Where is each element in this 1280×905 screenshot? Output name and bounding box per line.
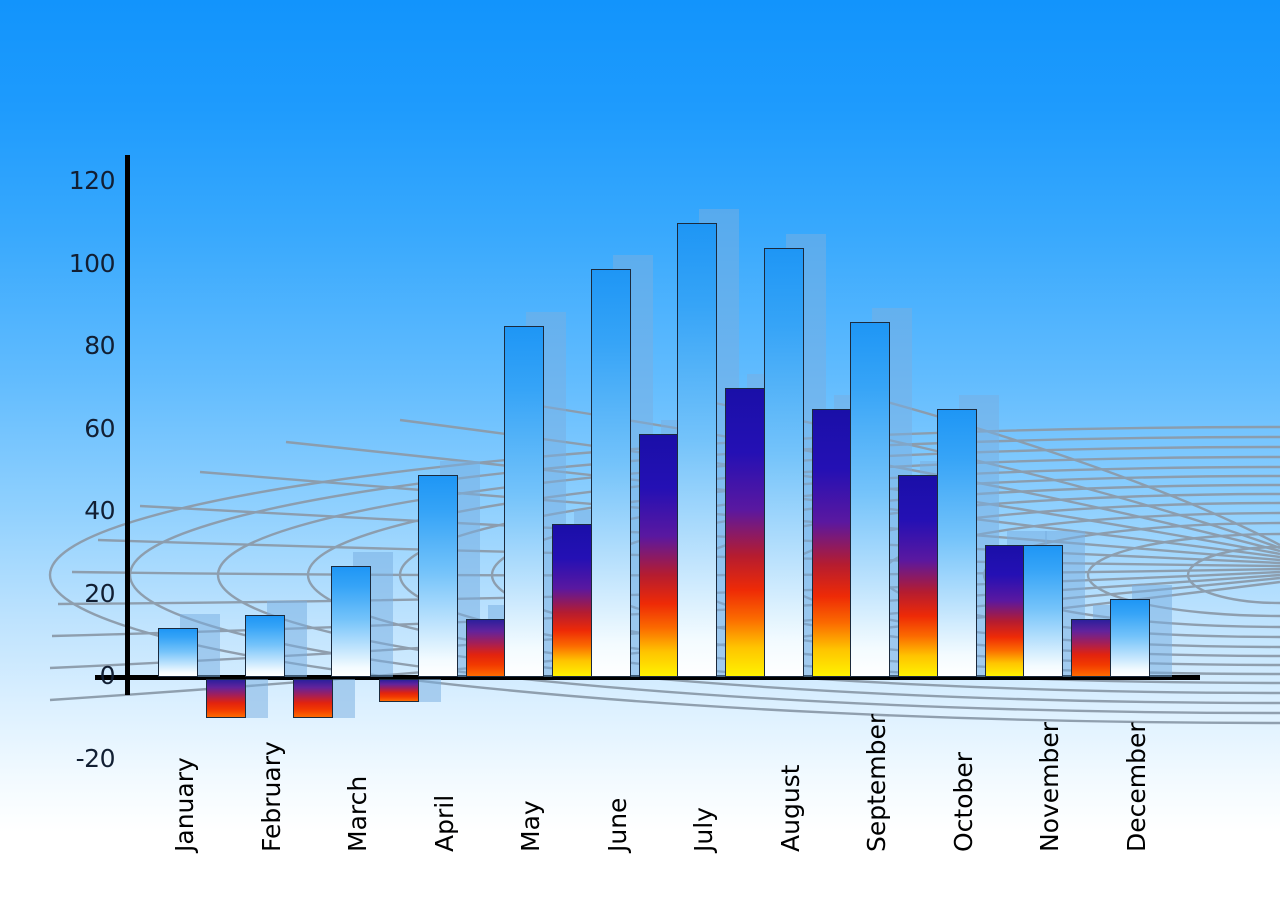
bar-series2-october[interactable] bbox=[985, 545, 1025, 677]
bar-series1-march[interactable] bbox=[331, 566, 371, 677]
bar-series2-june[interactable] bbox=[639, 434, 679, 677]
bar-series2-april[interactable] bbox=[466, 619, 506, 677]
x-tick-label-november: November bbox=[1035, 722, 1064, 852]
bar-series1-june[interactable] bbox=[591, 269, 631, 677]
plot-area: 120100806040200-20 JanuaryFebruaryMarchA… bbox=[0, 0, 1280, 905]
x-tick-label-june: June bbox=[603, 798, 632, 852]
x-tick-label-march: March bbox=[343, 776, 372, 852]
y-axis bbox=[125, 155, 130, 695]
bar-series2-november[interactable] bbox=[1071, 619, 1111, 677]
bar-series2-january[interactable] bbox=[206, 679, 246, 718]
x-tick-label-august: August bbox=[776, 765, 805, 853]
bar-series1-october[interactable] bbox=[937, 409, 977, 677]
chart-canvas: 120100806040200-20 JanuaryFebruaryMarchA… bbox=[0, 0, 1280, 905]
y-tick-label: 20 bbox=[35, 579, 115, 608]
y-tick-label: -20 bbox=[35, 744, 115, 773]
y-tick-label: 0 bbox=[35, 661, 115, 690]
bar-series2-february[interactable] bbox=[293, 679, 333, 718]
bar-series2-march[interactable] bbox=[379, 679, 419, 702]
bar-series1-november[interactable] bbox=[1023, 545, 1063, 677]
bar-series1-july[interactable] bbox=[677, 223, 717, 677]
y-tick-label: 100 bbox=[35, 249, 115, 278]
y-tick-label: 80 bbox=[35, 331, 115, 360]
bar-series1-december[interactable] bbox=[1110, 599, 1150, 677]
bar-series1-august[interactable] bbox=[764, 248, 804, 677]
x-tick-label-february: February bbox=[257, 741, 286, 852]
y-tick-label: 40 bbox=[35, 496, 115, 525]
x-tick-label-december: December bbox=[1122, 722, 1151, 852]
bar-series1-september[interactable] bbox=[850, 322, 890, 677]
x-tick-label-september: September bbox=[862, 714, 891, 852]
bar-series1-february[interactable] bbox=[245, 615, 285, 677]
bar-series1-january[interactable] bbox=[158, 628, 198, 678]
y-tick-label: 120 bbox=[35, 166, 115, 195]
x-tick-label-may: May bbox=[516, 800, 545, 852]
x-tick-label-april: April bbox=[430, 795, 459, 852]
bar-series2-september[interactable] bbox=[898, 475, 938, 677]
x-tick-label-july: July bbox=[689, 807, 718, 852]
y-tick-label: 60 bbox=[35, 414, 115, 443]
bar-series1-may[interactable] bbox=[504, 326, 544, 677]
bar-series2-august[interactable] bbox=[812, 409, 852, 677]
x-tick-label-january: January bbox=[170, 757, 199, 852]
x-tick-label-october: October bbox=[949, 752, 978, 852]
bar-series2-july[interactable] bbox=[725, 388, 765, 677]
bar-series1-april[interactable] bbox=[418, 475, 458, 677]
bar-series2-may[interactable] bbox=[552, 524, 592, 677]
